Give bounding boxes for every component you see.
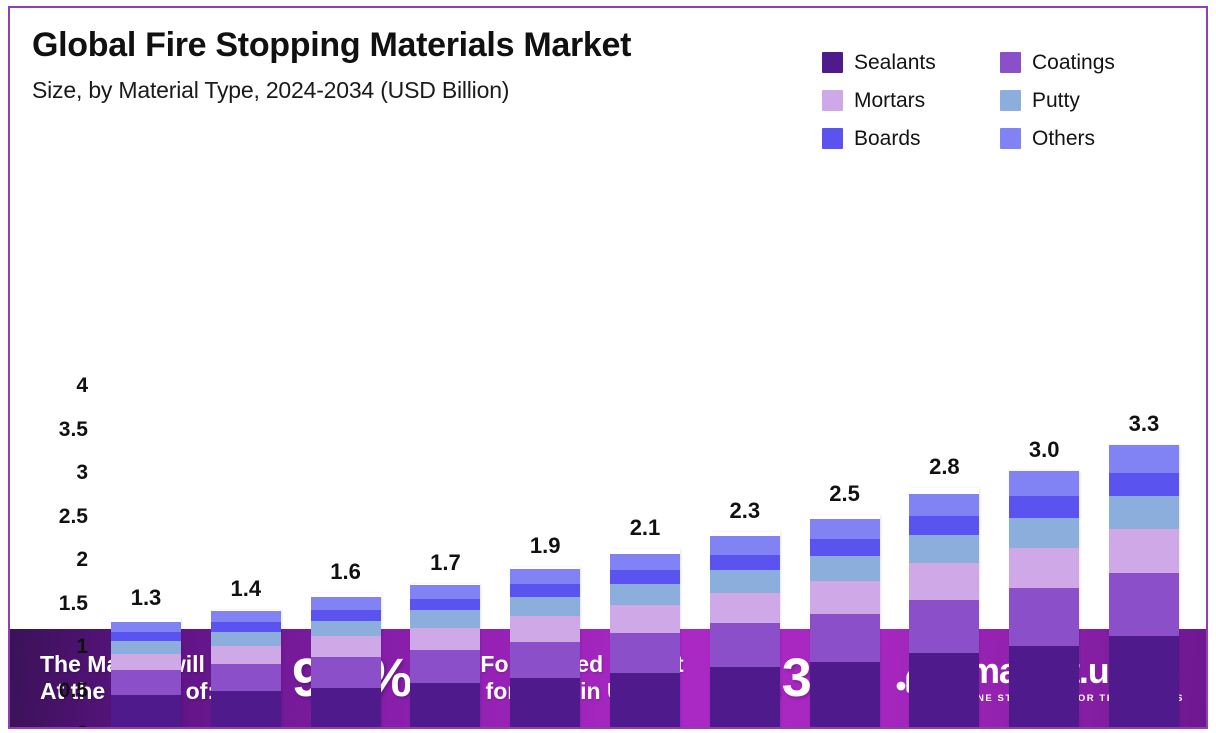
bar-total-label: 1.9 (499, 533, 591, 559)
bar-segment-boards (510, 584, 580, 597)
y-axis-tick: 2 (76, 548, 88, 572)
bar-segment-mortars (909, 563, 979, 600)
bar-segment-others (311, 597, 381, 610)
y-axis-tick: 3 (76, 461, 88, 485)
bar-segment-boards (211, 622, 281, 632)
chart-image: Global Fire Stopping Materials Market Si… (0, 0, 1216, 733)
bar-segment-boards (1109, 473, 1179, 496)
bar-segment-sealants (510, 678, 580, 729)
y-axis-labels: 00.511.522.533.54 (36, 386, 88, 729)
legend-swatch-icon (822, 90, 843, 111)
bar-total-label: 2.1 (599, 515, 691, 541)
bar-segment-mortars (410, 628, 480, 651)
bar-segment-putty (410, 610, 480, 627)
legend-item-label: Coatings (1032, 51, 1115, 75)
legend-swatch-icon (1000, 128, 1021, 149)
bar-segment-mortars (1009, 548, 1079, 588)
bar-segment-boards (1009, 496, 1079, 518)
bar-segment-others (410, 585, 480, 599)
y-axis-tick: 0.5 (59, 679, 88, 703)
bar-stack (111, 619, 181, 729)
bar-segment-coatings (211, 664, 281, 691)
bar-segment-putty (1109, 496, 1179, 529)
legend-item-label: Putty (1032, 89, 1080, 113)
bar-segment-sealants (1009, 646, 1079, 729)
bar-segment-putty (111, 641, 181, 654)
bar-segment-putty (311, 621, 381, 637)
bar-column-2031[interactable]: 2.5 (799, 376, 891, 729)
bar-column-2029[interactable]: 2.1 (599, 376, 691, 729)
bar-column-2028[interactable]: 1.9 (499, 376, 591, 729)
bar-series-group: 1.31.41.61.71.92.12.32.52.83.03.3 (100, 376, 1190, 729)
bar-total-label: 1.6 (300, 559, 392, 585)
legend-item-label: Mortars (854, 89, 925, 113)
bar-segment-sealants (710, 667, 780, 729)
bar-segment-sealants (410, 683, 480, 729)
bar-segment-others (710, 536, 780, 554)
legend-swatch-icon (1000, 52, 1021, 73)
bar-segment-coatings (1109, 573, 1179, 637)
bar-segment-boards (111, 632, 181, 641)
y-axis-tick: 1.5 (59, 592, 88, 616)
bar-segment-coatings (1009, 588, 1079, 646)
bar-column-2025[interactable]: 1.4 (200, 376, 292, 729)
bar-column-2027[interactable]: 1.7 (399, 376, 491, 729)
bar-total-label: 1.7 (399, 550, 491, 576)
legend-item-label: Others (1032, 127, 1095, 151)
bar-segment-others (909, 494, 979, 517)
legend-item-boards[interactable]: Boards (822, 124, 1000, 153)
y-axis-tick: 3.5 (59, 418, 88, 442)
bar-total-label: 2.5 (799, 481, 891, 507)
bar-total-label: 3.0 (998, 437, 1090, 463)
bar-segment-boards (311, 610, 381, 620)
legend-item-coatings[interactable]: Coatings (1000, 48, 1178, 77)
bar-segment-putty (610, 584, 680, 605)
y-axis-tick: 4 (76, 374, 88, 398)
bar-segment-sealants (909, 653, 979, 729)
bar-stack (311, 593, 381, 729)
bar-segment-coatings (710, 623, 780, 666)
bar-segment-others (1109, 445, 1179, 473)
bar-stack (710, 532, 780, 729)
bar-segment-others (211, 611, 281, 622)
y-axis-tick: 1 (76, 635, 88, 659)
bar-segment-putty (211, 632, 281, 646)
bar-segment-boards (710, 555, 780, 571)
bar-segment-mortars (510, 616, 580, 641)
chart-header: Global Fire Stopping Materials Market Si… (10, 8, 1206, 176)
bar-column-2030[interactable]: 2.3 (699, 376, 791, 729)
bar-segment-sealants (1109, 636, 1179, 729)
bar-segment-putty (710, 570, 780, 593)
bar-segment-putty (510, 597, 580, 616)
bar-segment-mortars (810, 581, 880, 614)
bar-segment-boards (610, 570, 680, 584)
bar-segment-sealants (810, 662, 880, 729)
bar-segment-coatings (610, 633, 680, 673)
bar-stack (510, 567, 580, 729)
bar-segment-mortars (311, 636, 381, 657)
bar-segment-coatings (311, 657, 381, 687)
chart-legend: SealantsCoatingsMortarsPuttyBoardsOthers (822, 48, 1192, 153)
bar-column-2026[interactable]: 1.6 (300, 376, 392, 729)
bar-segment-boards (810, 539, 880, 556)
legend-item-mortars[interactable]: Mortars (822, 86, 1000, 115)
bar-segment-mortars (111, 654, 181, 671)
legend-swatch-icon (1000, 90, 1021, 111)
bar-segment-sealants (111, 695, 181, 729)
bar-segment-others (510, 569, 580, 584)
bar-segment-boards (410, 599, 480, 610)
bar-column-2034[interactable]: 3.3 (1098, 376, 1190, 729)
bar-segment-mortars (211, 646, 281, 664)
bar-total-label: 3.3 (1098, 411, 1190, 437)
bar-segment-coatings (810, 614, 880, 662)
bar-segment-putty (1009, 518, 1079, 548)
bar-segment-coatings (111, 670, 181, 695)
bar-stack (810, 515, 880, 730)
legend-swatch-icon (822, 128, 843, 149)
bar-segment-mortars (1109, 529, 1179, 572)
bar-segment-mortars (610, 605, 680, 633)
bar-total-label: 1.4 (200, 576, 292, 602)
bar-stack (211, 610, 281, 729)
bar-segment-boards (909, 516, 979, 535)
plot-area: 00.511.522.533.54 1.31.41.61.71.92.12.32… (10, 176, 1206, 629)
legend-item-putty[interactable]: Putty (1000, 86, 1178, 115)
bar-total-label: 2.8 (898, 454, 990, 480)
bar-segment-sealants (311, 688, 381, 729)
bar-segment-others (810, 519, 880, 539)
bar-segment-mortars (710, 593, 780, 623)
bar-segment-coatings (510, 642, 580, 679)
legend-item-sealants[interactable]: Sealants (822, 48, 1000, 77)
y-axis-tick: 0 (76, 722, 88, 729)
bar-segment-sealants (610, 673, 680, 729)
bar-stack (1009, 471, 1079, 729)
legend-item-label: Sealants (854, 51, 936, 75)
bar-segment-coatings (909, 600, 979, 653)
bar-total-label: 1.3 (100, 585, 192, 611)
bar-stack (610, 549, 680, 729)
y-axis-tick: 2.5 (59, 505, 88, 529)
bar-segment-putty (810, 556, 880, 580)
legend-item-others[interactable]: Others (1000, 124, 1178, 153)
bar-column-2032[interactable]: 2.8 (898, 376, 990, 729)
bar-stack (1109, 445, 1179, 729)
chart-card: Global Fire Stopping Materials Market Si… (8, 6, 1208, 729)
bar-segment-putty (909, 535, 979, 563)
bar-stack (909, 488, 979, 729)
bar-column-2033[interactable]: 3.0 (998, 376, 1090, 729)
bar-segment-sealants (211, 691, 281, 729)
legend-swatch-icon (822, 52, 843, 73)
bar-segment-others (1009, 471, 1079, 496)
bar-column-2024[interactable]: 1.3 (100, 376, 192, 729)
bar-segment-others (111, 622, 181, 632)
legend-item-label: Boards (854, 127, 921, 151)
bar-segment-coatings (410, 650, 480, 683)
bar-total-label: 2.3 (699, 498, 791, 524)
bar-stack (410, 584, 480, 729)
bar-segment-others (610, 554, 680, 571)
